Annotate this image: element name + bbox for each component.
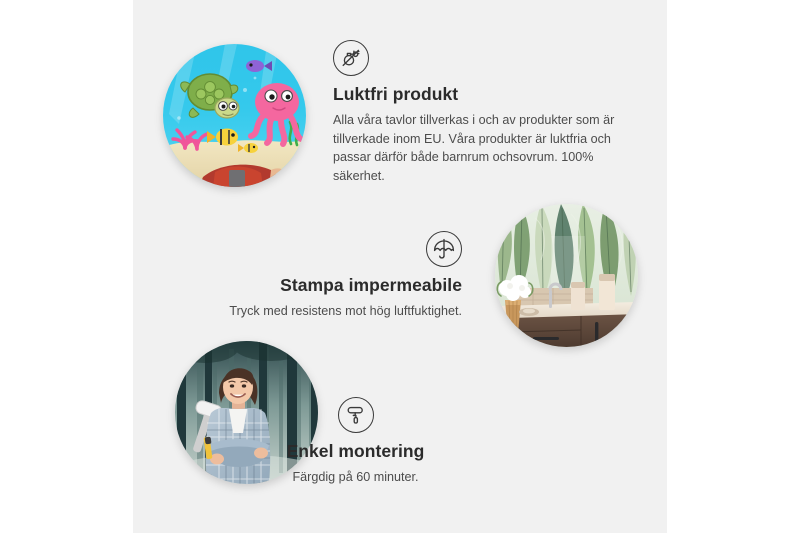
feature-body: Tryck med resistens mot hög luftfuktighe… xyxy=(180,302,462,321)
feature-easy-assembly: Enkel montering Färgdig på 60 minuter. xyxy=(263,397,448,487)
feature-title: Enkel montering xyxy=(263,441,448,463)
feature-body: Alla våra tavlor tillverkas i och av pro… xyxy=(333,111,633,186)
no-perfume-icon xyxy=(333,40,369,76)
feature-body: Färgdig på 60 minuter. xyxy=(263,468,448,487)
umbrella-icon xyxy=(426,231,462,267)
feature-title: Luktfri produkt xyxy=(333,84,633,106)
feature-title: Stampa impermeabile xyxy=(180,275,462,297)
feature-waterproof-print: Stampa impermeabile Tryck med resistens … xyxy=(180,231,462,321)
paint-roller-icon xyxy=(338,397,374,433)
photo-bathroom-wallpaper[interactable] xyxy=(495,204,638,347)
feature-odour-free: Luktfri produkt Alla våra tavlor tillver… xyxy=(333,40,633,185)
screenshot-canvas: Luktfri produkt Alla våra tavlor tillver… xyxy=(0,0,800,533)
photo-ocean-mural[interactable] xyxy=(163,44,306,187)
